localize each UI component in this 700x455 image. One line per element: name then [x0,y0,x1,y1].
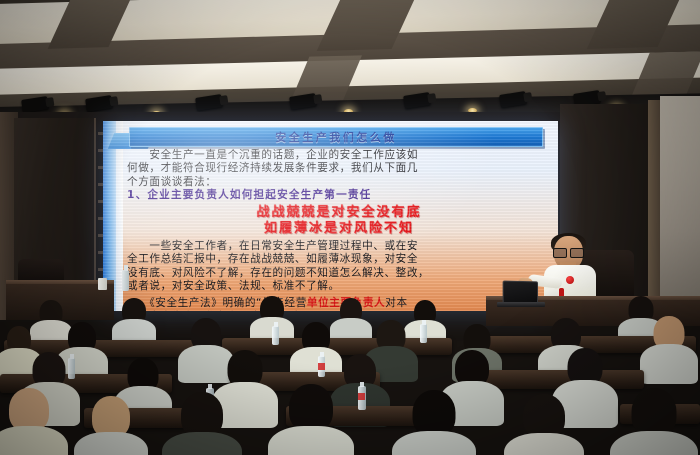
attendee-torso [610,431,698,455]
attendee-torso [640,344,698,384]
audience-member [162,392,242,455]
audience-member [268,384,354,455]
attendee-head [632,388,677,437]
slide-body: 安全生产一直是个沉重的话题，企业的安全工作应该如 何做，才能符合现行经济持续发展… [127,149,551,311]
slide-paragraph-line: 何做，才能符合现行经济持续发展条件要求，我们从下面几 [127,162,551,175]
slide-red-headline-line: 战战兢兢是对安全没有底 [127,205,551,221]
slide-red-headline-line: 如履薄冰是对风险不知 [127,221,551,237]
slide-title: 安全生产我们怎么做 [275,129,397,145]
attendee-torso [504,433,584,455]
audience-member [504,394,584,455]
presentation-slide: 安全生产我们怎么做 安全生产一直是个沉重的话题，企业的安全工作应该如 何做，才能… [103,121,558,311]
slide-numbered-heading: 1、企业主要负责人如何担起安全生产第一责任 [127,189,551,202]
water-bottle [272,326,279,345]
side-wall-right [660,96,700,322]
attendee-head [289,384,333,432]
slide-paragraph-line: 全工作总结汇报中，存在战战兢兢、如履薄冰现象，对安全 [127,253,551,266]
attendee-torso [74,432,148,455]
projection-screen: 安全生产我们怎么做 安全生产一直是个沉重的话题，企业的安全工作应该如 何做，才能… [103,121,558,311]
audience-area [0,296,700,455]
water-bottle [358,386,366,410]
attendee-torso [392,431,476,455]
water-bottle [420,324,427,343]
audience-member [392,390,476,455]
attendee-torso [0,426,68,455]
slide-paragraph-line: 个方面谈谈看法： [127,176,551,189]
conference-room-photo: 安全生产我们怎么做 安全生产一直是个沉重的话题，企业的安全工作应该如 何做，才能… [0,0,700,455]
glasses-icon [553,248,584,256]
audience-member [112,298,156,344]
attendee-torso [268,426,354,455]
slide-paragraph-line: 安全生产一直是个沉重的话题，企业的安全工作应该如 [127,149,551,162]
paper-cup [98,278,107,290]
slide-paragraph-line: 或者说，对安全政策、法规、标准不了解。 [127,280,551,293]
audience-member [0,388,68,455]
water-bottle [318,356,325,377]
attendee-torso [162,432,242,455]
slide-paragraph-line: 没有底、对风险不了解，存在的问题不知道怎么解决、整改， [127,267,551,280]
audience-member [640,316,698,382]
slide-title-banner: 安全生产我们怎么做 [129,127,543,147]
audience-member [610,388,698,455]
audience-member [74,396,148,455]
presenter-badge [566,276,574,284]
attendee-head [413,390,456,437]
water-bottle [122,270,129,291]
slide-paragraph-line: 一些安全工作者，在日常安全生产管理过程中、或在安 [127,240,551,253]
